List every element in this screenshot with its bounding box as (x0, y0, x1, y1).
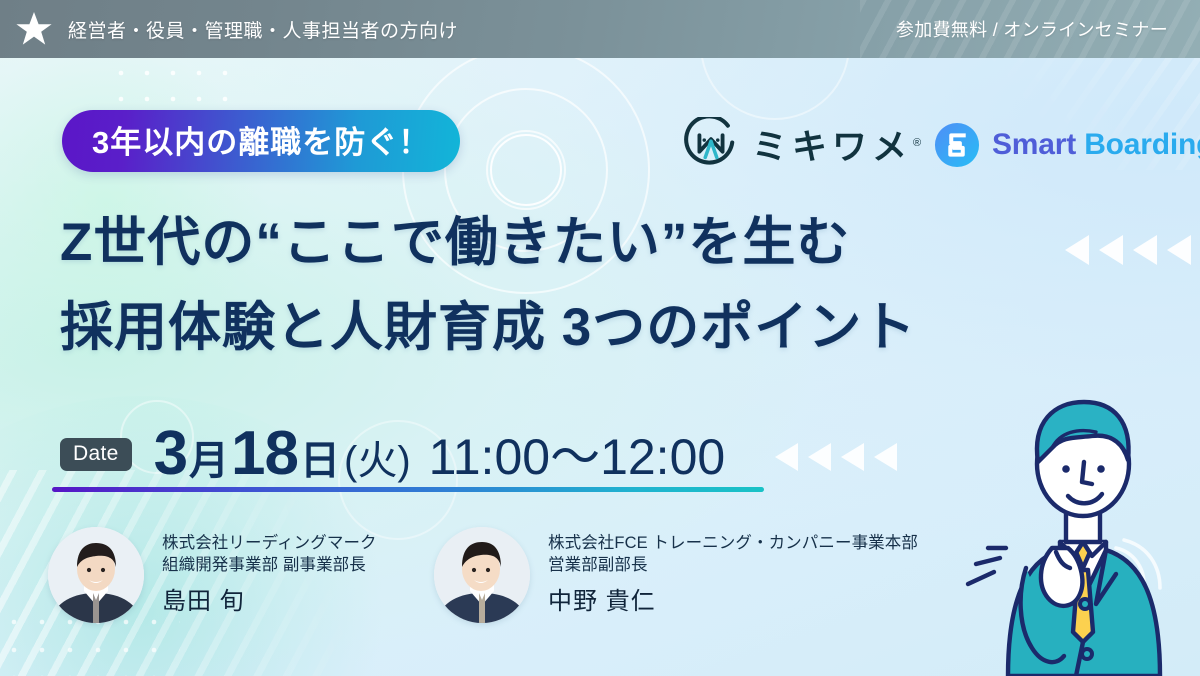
speaker-photo-icon (48, 527, 144, 623)
triangle-left-icon (874, 443, 897, 471)
ring-core-decor (490, 134, 562, 206)
mikiwame-logo-icon (684, 117, 738, 171)
tagline-text: 3年以内の離職を防ぐ！ (92, 117, 430, 162)
triangle-left-icon (808, 443, 831, 471)
businessman-illustration-icon (956, 336, 1200, 676)
date-weekday: (火) (344, 441, 411, 481)
speaker-card-2: 株式会社FCE トレーニング・カンパニー事業本部 営業部副部長 中野 貴仁 (434, 527, 918, 623)
triangle-left-icon (841, 443, 864, 471)
topbar-info-text: 参加費無料 / オンラインセミナー (896, 16, 1168, 42)
arrow-cluster-date (775, 443, 897, 471)
speaker-info: 株式会社リーディングマーク 組織開発事業部 副事業部長 島田 旬 (162, 532, 377, 618)
triangle-left-icon (775, 443, 798, 471)
triangle-left-icon (1065, 235, 1089, 265)
smart-boarding-logo-icon (934, 122, 980, 168)
date-time-range: 11:00〜12:00 (429, 432, 726, 482)
triangle-left-icon (1099, 235, 1123, 265)
smart-boarding-wordmark: Smart Boarding (992, 128, 1200, 162)
page-title: Z世代の“ここで働きたい”を生む 採用体験と人財育成 3つのポイント (60, 200, 916, 370)
arrow-cluster-headline (1065, 235, 1191, 265)
avatar (434, 527, 530, 623)
webinar-banner: 経営者・役員・管理職・人事担当者の方向け 参加費無料 / オンラインセミナー 3… (0, 0, 1200, 676)
star-icon (14, 9, 54, 49)
headline-line-2: 採用体験と人財育成 3つのポイント (60, 285, 916, 370)
triangle-left-icon (1133, 235, 1157, 265)
date-value: 3 月 18 日 (火) 11:00〜12:00 (154, 423, 726, 485)
date-day-number: 18 (231, 423, 298, 485)
businessman-illustration (956, 336, 1200, 676)
sb-word-boarding: Boarding (1084, 128, 1200, 161)
sb-word-smart: Smart (992, 128, 1076, 161)
mikiwame-logo: ミキワメ (684, 117, 926, 171)
date-month-number: 3 (154, 423, 187, 485)
speaker-org-line-2: 営業部副部長 (548, 554, 918, 576)
headline-line-1: Z世代の“ここで働きたい”を生む (60, 200, 916, 285)
speaker-org-line-1: 株式会社リーディングマーク (162, 532, 377, 554)
speaker-name: 島田 旬 (162, 586, 377, 618)
date-row: Date 3 月 18 日 (火) 11:00〜12:00 (60, 423, 725, 485)
date-month-unit: 月 (189, 441, 229, 481)
speaker-org-line-1: 株式会社FCE トレーニング・カンパニー事業本部 (548, 532, 918, 554)
mikiwame-wordmark: ミキワメ (752, 119, 926, 170)
tagline-badge: 3年以内の離職を防ぐ！ (62, 110, 460, 172)
date-day-unit: 日 (300, 441, 340, 481)
smart-boarding-logo: Smart Boarding (934, 122, 1200, 168)
avatar (48, 527, 144, 623)
top-bar: 経営者・役員・管理職・人事担当者の方向け 参加費無料 / オンラインセミナー (0, 0, 1200, 58)
date-underline-accent (52, 487, 764, 492)
date-badge-label: Date (60, 438, 132, 471)
speaker-name: 中野 貴仁 (548, 586, 918, 618)
speaker-info: 株式会社FCE トレーニング・カンパニー事業本部 営業部副部長 中野 貴仁 (548, 532, 918, 618)
triangle-left-icon (1167, 235, 1191, 265)
speaker-org-line-2: 組織開発事業部 副事業部長 (162, 554, 377, 576)
speaker-card-1: 株式会社リーディングマーク 組織開発事業部 副事業部長 島田 旬 (48, 527, 377, 623)
topbar-audience-text: 経営者・役員・管理職・人事担当者の方向け (68, 16, 458, 43)
speaker-photo-icon (434, 527, 530, 623)
